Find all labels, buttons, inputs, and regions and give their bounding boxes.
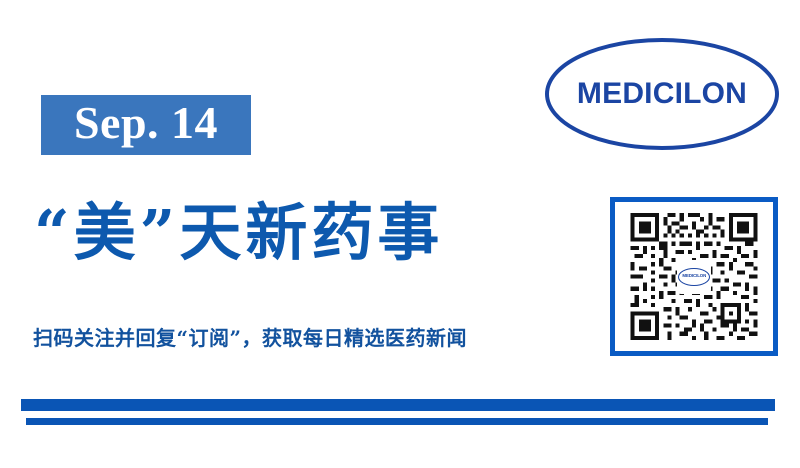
medicilon-logo-icon: MEDICILON: [543, 36, 781, 152]
footer-rule-bottom: [26, 418, 768, 425]
subtitle-text: 扫码关注并回复“订阅”，获取每日精选医药新闻: [33, 322, 593, 354]
poster-canvas: Sep. 14 MEDICILON “美”天新药事 扫码关注并回复“订阅”，获取…: [0, 0, 800, 468]
qr-center-logo-ellipse: MEDICILON: [678, 268, 710, 286]
date-badge-label: Sep. 14: [74, 100, 218, 146]
qr-center-logo-label: MEDICILON: [682, 274, 706, 278]
qr-code-icon[interactable]: MEDICILON: [610, 197, 778, 356]
footer-rule-top: [21, 399, 775, 411]
qr-code-matrix: MEDICILON: [622, 209, 766, 344]
qr-center-logo-icon: MEDICILON: [677, 260, 711, 294]
date-badge: Sep. 14: [41, 95, 251, 155]
page-title: “美”天新药事: [34, 183, 594, 283]
brand-logo-label: MEDICILON: [543, 36, 781, 152]
